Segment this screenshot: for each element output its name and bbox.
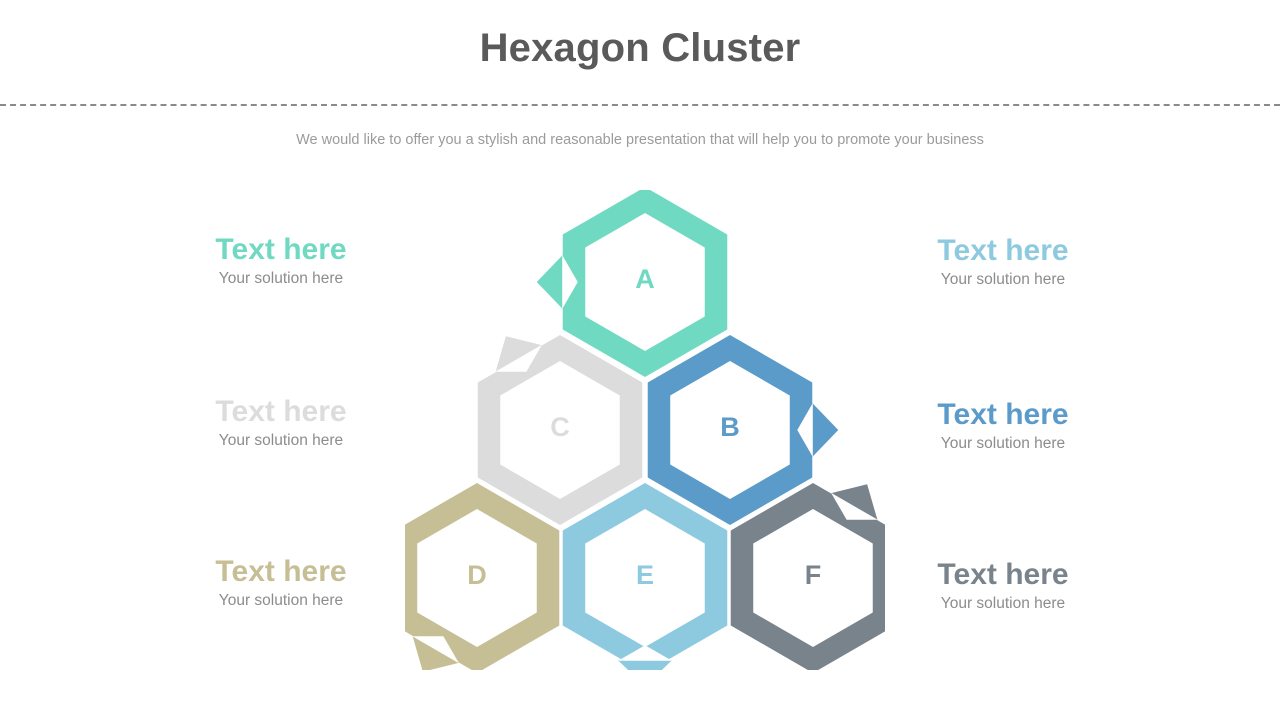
text-block-e: Text hereYour solution here <box>868 235 1138 288</box>
text-block-description-b: Your solution here <box>868 435 1138 452</box>
hexagon-letter-a: A <box>635 264 655 294</box>
hexagon-arrow-e <box>618 660 672 670</box>
hexagon-arrow-a <box>537 255 563 309</box>
text-block-d: Text hereYour solution here <box>146 556 416 609</box>
text-block-heading-e: Text here <box>868 235 1138 267</box>
hexagon-letter-b: B <box>720 412 740 442</box>
slide-canvas: Hexagon Cluster We would like to offer y… <box>0 0 1280 720</box>
text-block-f: Text hereYour solution here <box>868 559 1138 612</box>
page-subtitle: We would like to offer you a stylish and… <box>0 132 1280 148</box>
text-block-description-d: Your solution here <box>146 592 416 609</box>
hexagon-node-c[interactable]: C <box>478 335 643 525</box>
hexagon-letter-f: F <box>805 560 822 590</box>
text-block-description-e: Your solution here <box>868 271 1138 288</box>
hexagon-cluster-svg: ACDEBF <box>405 190 885 670</box>
text-block-heading-b: Text here <box>868 399 1138 431</box>
text-block-description-f: Your solution here <box>868 595 1138 612</box>
text-block-b: Text hereYour solution here <box>868 399 1138 452</box>
text-block-a: Text hereYour solution here <box>146 234 416 287</box>
hexagon-node-e[interactable]: E <box>563 483 728 670</box>
text-block-heading-c: Text here <box>146 396 416 428</box>
text-block-c: Text hereYour solution here <box>146 396 416 449</box>
hexagon-letter-d: D <box>467 560 487 590</box>
page-title: Hexagon Cluster <box>0 26 1280 71</box>
text-block-heading-d: Text here <box>146 556 416 588</box>
text-block-heading-a: Text here <box>146 234 416 266</box>
hexagon-letter-e: E <box>636 560 654 590</box>
text-block-description-c: Your solution here <box>146 432 416 449</box>
text-block-description-a: Your solution here <box>146 270 416 287</box>
hexagon-arrow-b <box>812 403 838 457</box>
text-block-heading-f: Text here <box>868 559 1138 591</box>
hexagon-letter-c: C <box>550 412 570 442</box>
hexagon-cluster: ACDEBF <box>405 190 885 670</box>
header-divider <box>0 104 1280 106</box>
